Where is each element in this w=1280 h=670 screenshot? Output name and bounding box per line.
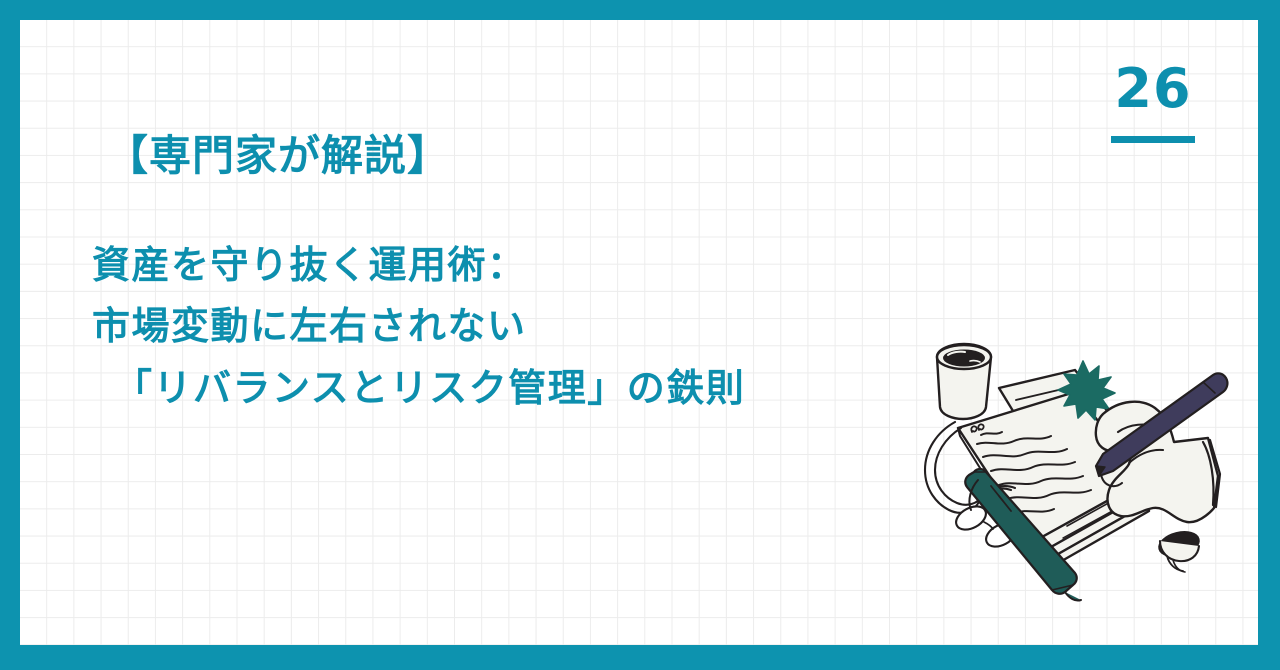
badge-number: 26 bbox=[1114, 62, 1191, 116]
grid-background: 26 【専門家が解説】 資産を守り抜く運用術： 市場変動に左右されない 「リバラ… bbox=[20, 20, 1258, 645]
frame-right-band bbox=[1258, 0, 1280, 670]
headline-line-1: 資産を守り抜く運用術： bbox=[92, 235, 932, 297]
frame-left-band bbox=[0, 0, 20, 670]
page-title: 資産を守り抜く運用術： 市場変動に左右されない 「リバランスとリスク管理」の鉄則 bbox=[92, 235, 932, 420]
eyebrow-label: 【専門家が解説】 bbox=[106, 130, 932, 183]
headline-line-2: 市場変動に左右されない bbox=[92, 296, 932, 358]
text-block: 【専門家が解説】 資産を守り抜く運用術： 市場変動に左右されない 「リバランスと… bbox=[92, 130, 932, 419]
headline-line-3: 「リバランスとリスク管理」の鉄則 bbox=[92, 358, 932, 420]
slide-canvas: 26 【専門家が解説】 資産を守り抜く運用術： 市場変動に左右されない 「リバラ… bbox=[0, 0, 1280, 670]
ring-shape bbox=[1157, 528, 1201, 572]
number-badge: 26 bbox=[1098, 62, 1208, 143]
hand-writing-in-notebook-illustration bbox=[915, 330, 1245, 630]
badge-underline-rule bbox=[1111, 136, 1195, 143]
frame-bottom-band bbox=[0, 645, 1280, 670]
frame-top-band bbox=[0, 0, 1280, 20]
coffee-cup-shape bbox=[937, 344, 991, 419]
